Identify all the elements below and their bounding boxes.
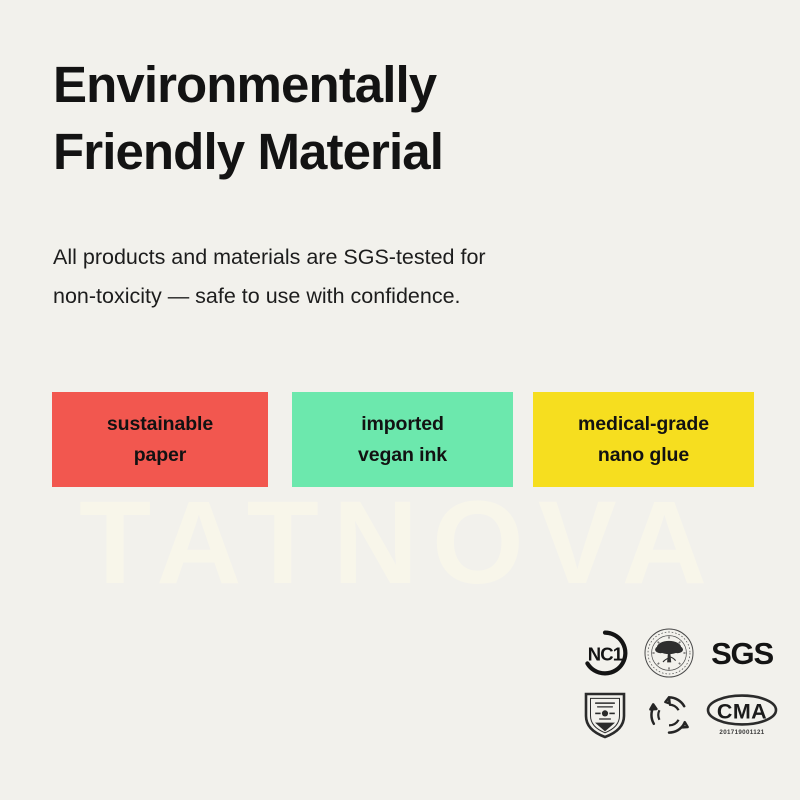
- cma-certification-icon: CMA 201719001121: [706, 694, 778, 736]
- chip-label-line-2: paper: [134, 440, 187, 470]
- svg-text:CMA: CMA: [717, 700, 767, 724]
- page-title-line-1: Environmentally: [53, 51, 693, 118]
- chip-label-line-2: nano glue: [598, 440, 689, 470]
- recycling-certification-icon: [645, 691, 693, 739]
- sgs-certification-icon: SGS: [711, 638, 773, 669]
- sgs-label: SGS: [711, 638, 773, 669]
- certification-badge-grid: NC1: [574, 622, 782, 746]
- chip-label-line-2: vegan ink: [358, 440, 447, 470]
- description-text: All products and materials are SGS-teste…: [53, 238, 673, 316]
- material-chip-medical-grade-nano-glue: medical-grade nano glue: [533, 392, 754, 487]
- nc1-certification-icon: NC1: [581, 629, 629, 677]
- chip-label-line-1: sustainable: [107, 409, 213, 439]
- shield-certification-icon: [582, 689, 628, 741]
- poster-canvas: TATNOVA Environmentally Friendly Materia…: [0, 0, 800, 800]
- brand-watermark: TATNOVA: [0, 484, 800, 602]
- chip-label-line-1: medical-grade: [578, 409, 709, 439]
- material-chip-sustainable-paper: sustainable paper: [52, 392, 268, 487]
- page-title: Environmentally Friendly Material: [53, 51, 693, 186]
- forest-seal-certification-icon: [643, 627, 695, 679]
- page-title-line-2: Friendly Material: [53, 118, 693, 185]
- material-chip-group: sustainable paper imported vegan ink med…: [52, 392, 754, 487]
- description-line-1: All products and materials are SGS-teste…: [53, 238, 673, 277]
- svg-text:NC1: NC1: [588, 644, 623, 665]
- description-line-2: non-toxicity — safe to use with confiden…: [53, 277, 673, 316]
- cma-certificate-number: 201719001121: [719, 729, 764, 736]
- chip-label-line-1: imported: [361, 409, 444, 439]
- material-chip-imported-vegan-ink: imported vegan ink: [292, 392, 513, 487]
